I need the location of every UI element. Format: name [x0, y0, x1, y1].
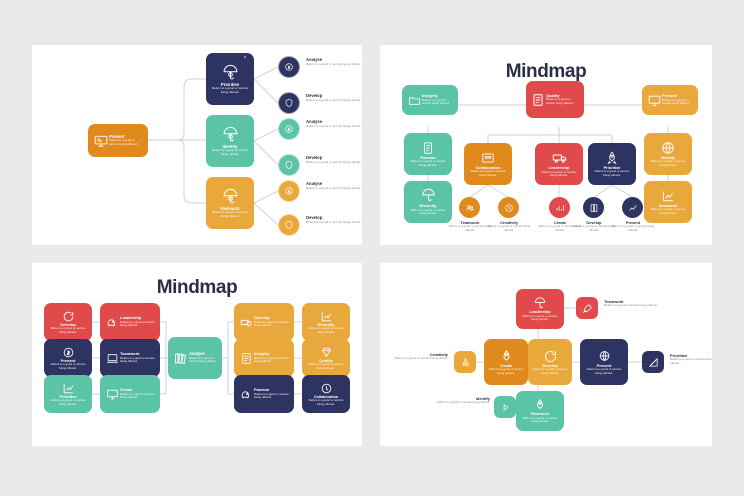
leaf-desc: Refers to a good or service being offere… [604, 304, 660, 307]
line-chart-icon [628, 203, 638, 213]
node-diversity[interactable]: Diversity Refers to a good or service be… [404, 181, 452, 223]
node-present-p4[interactable]: Present Refers to a good or service bein… [580, 339, 628, 385]
node-desc: Refers to a good or service being offere… [520, 315, 560, 322]
label-develop-3: Develop Refers to a good or service bein… [306, 216, 362, 224]
node-desc: Refers to a good or service being offere… [408, 209, 448, 216]
page-title: Mindmap [32, 277, 362, 299]
node-desc: Refers to a good or service being offere… [532, 368, 568, 375]
node-desc: Refers to a good or service being offere… [306, 327, 346, 334]
node-desc: Refers to a good or service being offere… [539, 171, 579, 178]
node-leadership-li[interactable]: Leadership Refers to a good or service b… [100, 303, 160, 341]
node-research[interactable]: Research Refers to a good or service bei… [206, 177, 254, 229]
node-desc: Refers to a good or service being offere… [210, 211, 250, 218]
node-desc: Refers to a good or service being offere… [648, 208, 688, 215]
refresh-icon [62, 310, 75, 323]
document-icon [421, 141, 435, 155]
label-teamwork-p4: Teamwork Refers to a good or service bei… [604, 300, 660, 308]
shield-icon [284, 160, 294, 170]
node-analyse-center[interactable]: Analyse Refers to a good or service bein… [168, 337, 222, 379]
node-create-li[interactable]: Create Refers to a good or service being… [100, 375, 160, 413]
monitor-icon [104, 388, 120, 401]
label-analyse-2: Analyse Refers to a good or service bein… [306, 120, 362, 128]
rocket-icon [582, 303, 593, 314]
node-desc: Refers to a good or service being offere… [584, 368, 624, 375]
node-collaboration-ro[interactable]: Collaboration Refers to a good or servic… [302, 375, 350, 413]
lightbulb-icon [504, 203, 514, 213]
piggy-bank-icon [238, 388, 254, 401]
label-creativity: Creativity Refers to a good or service b… [483, 221, 535, 232]
node-prioritise-mid[interactable]: Prioritise Refers to a good or service b… [588, 143, 636, 185]
node-desc: Refers to a good or service being offere… [120, 393, 156, 400]
badge-analyse-1[interactable] [244, 56, 246, 58]
node-desc: Refers to a good or service being offere… [546, 98, 580, 105]
cone-icon [460, 357, 471, 368]
node-collaboration[interactable]: Collaboration Refers to a good or servic… [464, 143, 512, 185]
node-passion-ri[interactable]: Passion Refers to a good or service bein… [234, 375, 294, 413]
panel-symmetric-mindmap: Mindmap Develop Refers to a good or serv… [32, 263, 362, 446]
umbrella-icon [421, 188, 436, 203]
node-quality[interactable]: Quality Refers to a good or service bein… [526, 81, 584, 118]
shield-icon [284, 98, 294, 108]
diamond-icon [320, 346, 333, 359]
leaf-desc: Refers to a good or service being offere… [670, 358, 712, 365]
play-icon [500, 402, 511, 413]
node-desc: Refers to a good or service being offere… [189, 357, 218, 364]
node-quality-ro[interactable]: Quality Refers to a good or service bein… [302, 339, 350, 377]
badge-leaf-1[interactable] [278, 56, 300, 78]
badge-present-mid[interactable] [622, 197, 643, 218]
shield-icon [284, 220, 294, 230]
globe-icon [597, 349, 612, 364]
node-present-root[interactable]: Present Refers to a good or service bein… [88, 124, 148, 157]
label-creativity-p4: Creativity Refers to a good or service b… [394, 353, 448, 361]
rocket-icon [499, 349, 514, 364]
globe-icon [661, 141, 675, 155]
node-present-top[interactable]: Present Refers to a good or service bein… [642, 85, 698, 115]
umbrella-icon [222, 188, 239, 205]
node-desc: Refers to a good or service being offere… [48, 399, 88, 406]
book-icon [589, 203, 599, 213]
leaf-desc: Refers to a good or service being offere… [436, 401, 490, 404]
refresh-icon [320, 382, 333, 395]
node-desc: Refers to a good or service being offere… [408, 160, 448, 167]
rocket-icon [605, 151, 619, 165]
leaf-desc: Refers to a good or service being offere… [306, 221, 362, 225]
node-integrity-ri[interactable]: Integrity Refers to a good or service be… [234, 339, 294, 377]
node-desc: Refers to a good or service being offere… [648, 160, 688, 167]
node-develop-ri[interactable]: Develop Refers to a good or service bein… [234, 303, 294, 341]
node-desc: Refers to a good or service being offere… [120, 357, 156, 364]
chart-icon [320, 310, 333, 323]
node-teamwork-li[interactable]: Teamwork Refers to a good or service bei… [100, 339, 160, 377]
leaf-desc: Refers to a good or service being offere… [306, 161, 362, 165]
badge-creativity-p4[interactable] [454, 351, 476, 373]
label-analyse-3: Analyse Refers to a good or service bein… [306, 182, 362, 190]
node-research-p4[interactable]: Research Refers to a good or service bei… [516, 391, 564, 431]
badge-prioritise-p4[interactable] [642, 351, 664, 373]
node-prioritise[interactable]: Prioritise Refers to a good or service b… [206, 53, 254, 105]
node-create-p4[interactable]: Create Refers to a good or service being… [484, 339, 528, 385]
coin-icon [284, 124, 294, 134]
panel1-connectors [32, 45, 362, 245]
node-prioritise-l[interactable]: Prioritise Refers to a good or service b… [44, 375, 92, 413]
leaf-desc: Refers to a good or service being offere… [306, 125, 362, 129]
node-desc: Refers to a good or service being offere… [468, 170, 508, 177]
panel-hierarchy-mindmap: Mindmap Integr [380, 45, 712, 245]
presentation-board-icon [646, 94, 662, 107]
label-develop-1: Develop Refers to a good or service bein… [306, 94, 362, 102]
label-develop-2: Develop Refers to a good or service bein… [306, 156, 362, 164]
truck-icon [552, 150, 567, 165]
leaf-desc: Refers to a good or service being offere… [394, 357, 448, 360]
label-present-mid: Present Refers to a good or service bein… [607, 221, 659, 232]
node-desc: Refers to a good or service being offere… [592, 170, 632, 177]
badge-leaf-4[interactable] [278, 154, 300, 176]
chart-icon [62, 382, 75, 395]
badge-create[interactable] [549, 197, 570, 218]
umbrella-icon [533, 296, 547, 310]
panel-cross-mindmap: Leadership Refers to a good or service b… [380, 263, 712, 446]
badge-creativity[interactable] [498, 197, 519, 218]
node-desc: Refers to a good or service being offere… [120, 321, 156, 328]
leaf-desc: Refers to a good or service being offere… [306, 187, 362, 191]
label-identify-p4: Identify Refers to a good or service bei… [436, 397, 490, 405]
node-desc: Refers to a good or service being offere… [254, 393, 290, 400]
coin-icon [284, 62, 294, 72]
folder-icon [406, 94, 422, 107]
node-desc: Refers to a good or service being offere… [48, 363, 88, 370]
badge-teamwork[interactable] [459, 197, 480, 218]
node-desc: Refers to a good or service being offere… [254, 321, 290, 328]
presentation-board-icon [92, 134, 109, 148]
node-desc: Refers to a good or service being offere… [48, 327, 88, 334]
node-develop-p4[interactable]: Develop Refers to a good or service bein… [528, 339, 572, 385]
node-identify-right[interactable]: Identify Refers to a good or service bei… [644, 133, 692, 175]
leaf-desc: Refers to a good or service being offere… [483, 225, 535, 232]
node-leadership-p4[interactable]: Leadership Refers to a good or service b… [516, 289, 564, 329]
bar-chart-icon [555, 203, 565, 213]
chart-icon [661, 189, 675, 203]
money-icon [238, 316, 254, 329]
badge-leaf-3[interactable] [278, 118, 300, 140]
panel-radial-mindmap: Present Refers to a good or service bein… [32, 45, 362, 245]
label-prioritise-p4: Prioritise Refers to a good or service b… [670, 354, 712, 365]
node-integrity[interactable]: Integrity Refers to a good or service be… [402, 85, 458, 115]
ruler-icon [648, 357, 659, 368]
piggy-bank-icon [104, 316, 120, 329]
badge-leaf-5[interactable] [278, 180, 300, 202]
badge-identify-p4[interactable] [494, 396, 516, 418]
books-icon [172, 351, 189, 366]
rocket-icon [533, 398, 547, 412]
leaf-desc: Refers to a good or service being offere… [306, 63, 362, 67]
team-icon [465, 203, 475, 213]
leaf-desc: Refers to a good or service being offere… [607, 225, 659, 232]
node-identify[interactable]: Identify Refers to a good or service bei… [206, 115, 254, 167]
node-develop-l[interactable]: Develop Refers to a good or service bein… [44, 303, 92, 341]
node-desc: Refers to a good or service being offere… [254, 357, 290, 364]
badge-teamwork-p4[interactable] [576, 297, 598, 319]
node-present-l[interactable]: Present Refers to a good or service bein… [44, 339, 92, 377]
leaf-desc: Refers to a good or service being offere… [306, 99, 362, 103]
node-diversity-ro[interactable]: Diversity Refers to a good or service be… [302, 303, 350, 341]
node-leadership[interactable]: Leadership Refers to a good or service b… [535, 143, 583, 185]
slide-grid: Present Refers to a good or service bein… [0, 0, 744, 496]
handshake-icon [481, 151, 495, 165]
node-desc: Refers to a good or service being offere… [210, 87, 250, 94]
node-desc: Refers to a good or service being offere… [306, 399, 346, 406]
umbrella-icon [222, 126, 239, 143]
laptop-icon [104, 352, 120, 365]
label-analyse-1: Analyse Refers to a good or service bein… [306, 58, 362, 66]
clipboard-icon [530, 93, 546, 107]
node-desc: Refers to a good or service being offere… [306, 363, 346, 370]
node-desc: Refers to a good or service being offere… [662, 99, 694, 106]
node-desc: Refers to a good or service being offere… [488, 368, 524, 375]
node-desc: Refers to a good or service being offere… [109, 139, 144, 146]
node-desc: Refers to a good or service being offere… [520, 417, 560, 424]
umbrella-icon [222, 64, 239, 81]
node-desc: Refers to a good or service being offere… [210, 149, 250, 156]
coin-icon [284, 186, 294, 196]
node-research-right[interactable]: Research Refers to a good or service bei… [644, 181, 692, 223]
clipboard-icon [238, 352, 254, 365]
badge-leaf-2[interactable] [278, 92, 300, 114]
node-desc: Refers to a good or service being offere… [422, 99, 454, 106]
coin-icon [62, 346, 75, 359]
refresh-icon [543, 349, 558, 364]
node-passion[interactable]: Passion Refers to a good or service bein… [404, 133, 452, 175]
page-title: Mindmap [380, 61, 712, 83]
badge-leaf-6[interactable] [278, 214, 300, 236]
badge-develop-mid[interactable] [583, 197, 604, 218]
